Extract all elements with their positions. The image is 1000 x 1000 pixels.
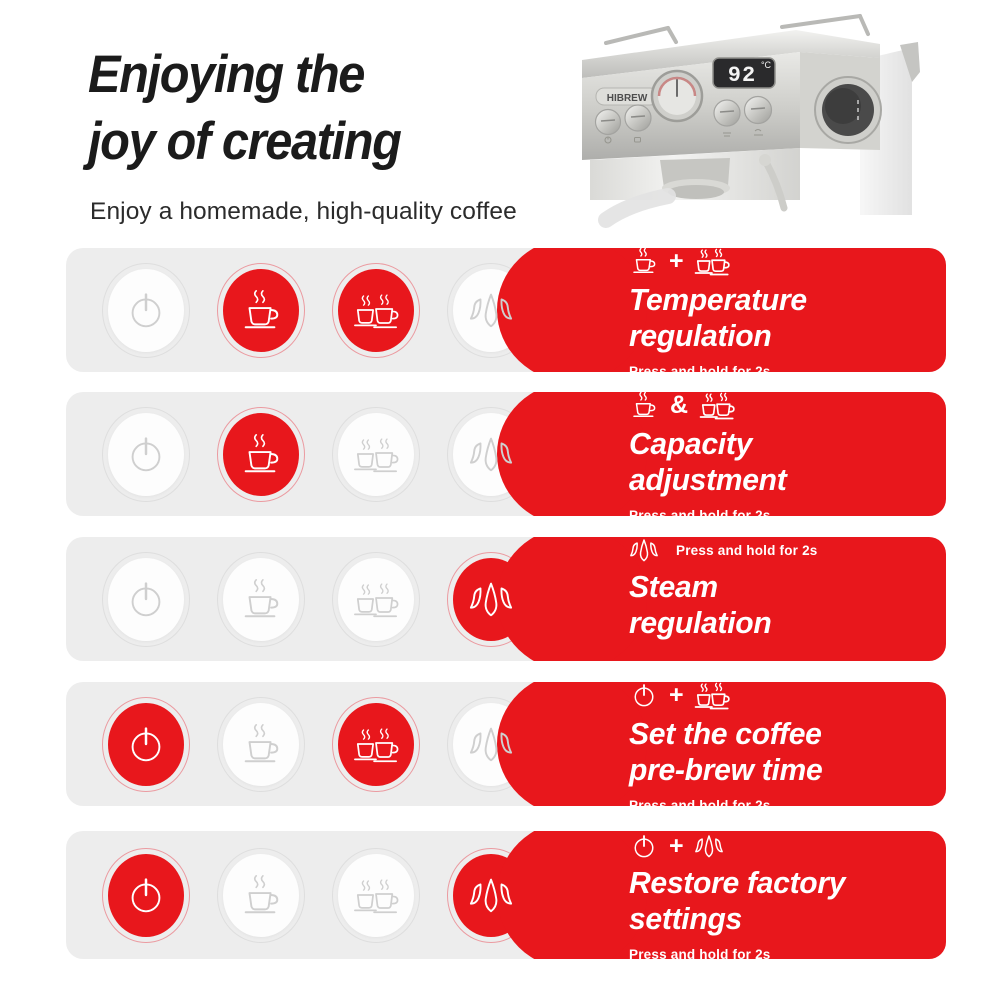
- feature-row-temperature-regulation: +TemperatureregulationPress and hold for…: [66, 248, 946, 372]
- single-cup-icon: [629, 392, 659, 420]
- control-button-group: [66, 537, 581, 661]
- double-cup-icon: [353, 287, 399, 333]
- power-icon: [123, 721, 169, 767]
- button-combination: +: [629, 248, 932, 278]
- control-button-power-inactive[interactable]: [102, 407, 190, 502]
- control-button-group: [66, 248, 581, 372]
- power-icon: [123, 431, 169, 477]
- feature-description-panel: +Restore factorysettingsPress and hold f…: [571, 831, 946, 959]
- control-button-double-cup-active[interactable]: [332, 697, 420, 792]
- feature-title-line-1: Restore factory: [629, 865, 845, 900]
- panel-curved-edge: [497, 831, 647, 959]
- feature-title-line-1: Set the coffee: [629, 716, 822, 751]
- plus-separator: +: [668, 834, 685, 859]
- control-button-group: [66, 682, 581, 806]
- feature-row-set-coffee-pre-brew-time: +Set the coffeepre-brew timePress and ho…: [66, 682, 946, 806]
- espresso-machine-image: HIBREW 92 °C: [560, 0, 1000, 245]
- steam-icon: [468, 872, 514, 918]
- control-button-single-cup-active[interactable]: [217, 407, 305, 502]
- panel-content: +Set the coffeepre-brew timePress and ho…: [629, 682, 932, 806]
- single-cup-icon: [238, 872, 284, 918]
- steam-icon: [468, 287, 514, 333]
- machine-brand-label: HIBREW: [607, 93, 648, 104]
- panel-curved-edge: [497, 682, 647, 806]
- feature-title-line-2: regulation: [629, 318, 923, 353]
- single-cup-icon: [238, 431, 284, 477]
- double-cup-icon: [694, 248, 730, 279]
- espresso-machine-illustration: HIBREW 92 °C: [560, 0, 1000, 245]
- headline-line-2: joy of creating: [88, 109, 520, 176]
- control-button-group: [66, 831, 581, 959]
- control-button-double-cup-inactive[interactable]: [332, 552, 420, 647]
- feature-title: Steamregulation: [629, 569, 923, 639]
- button-combination: +: [629, 831, 932, 861]
- ampersand-separator: &: [668, 393, 690, 418]
- panel-content: +Restore factorysettingsPress and hold f…: [629, 831, 932, 959]
- control-button-power-inactive[interactable]: [102, 552, 190, 647]
- product-infographic-page: Enjoying the joy of creating Enjoy a hom…: [0, 0, 1000, 1000]
- feature-title-line-1: Capacity: [629, 426, 752, 461]
- feature-description-panel: &CapacityadjustmentPress and hold for 2s: [571, 392, 946, 516]
- feature-row-capacity-adjustment: &CapacityadjustmentPress and hold for 2s: [66, 392, 946, 516]
- power-icon: [123, 287, 169, 333]
- control-button-single-cup-inactive[interactable]: [217, 552, 305, 647]
- control-button-single-cup-inactive[interactable]: [217, 697, 305, 792]
- button-combination: +: [629, 682, 932, 712]
- steam-icon: [694, 831, 724, 861]
- power-icon: [123, 872, 169, 918]
- steam-icon: [468, 721, 514, 767]
- feature-description-panel: Press and hold for 2sSteamregulationPres…: [571, 537, 946, 661]
- double-cup-icon: [353, 431, 399, 477]
- single-cup-icon: [238, 576, 284, 622]
- press-hold-instruction: Press and hold for 2s: [629, 947, 932, 959]
- panel-curved-edge: [497, 537, 647, 661]
- panel-content: +TemperatureregulationPress and hold for…: [629, 248, 932, 372]
- control-button-group: [66, 392, 581, 516]
- feature-title: Temperatureregulation: [629, 282, 923, 352]
- feature-title-line-1: Temperature: [629, 282, 807, 317]
- power-icon: [123, 576, 169, 622]
- power-icon: [629, 831, 659, 861]
- press-hold-instruction: Press and hold for 2s: [629, 798, 932, 806]
- double-cup-icon: [699, 392, 735, 423]
- panel-curved-edge: [497, 248, 647, 372]
- plus-separator: +: [668, 249, 685, 274]
- control-button-double-cup-inactive[interactable]: [332, 848, 420, 943]
- double-cup-icon: [353, 872, 399, 918]
- feature-title: Restore factorysettings: [629, 865, 923, 935]
- page-headline: Enjoying the joy of creating: [88, 42, 520, 176]
- control-button-double-cup-active[interactable]: [332, 263, 420, 358]
- feature-title: Capacityadjustment: [629, 426, 923, 496]
- feature-title-line-2: regulation: [629, 605, 923, 640]
- control-button-power-active[interactable]: [102, 697, 190, 792]
- feature-title-line-2: settings: [629, 901, 923, 936]
- feature-row-restore-factory-settings: +Restore factorysettingsPress and hold f…: [66, 831, 946, 959]
- feature-title-line-2: adjustment: [629, 462, 923, 497]
- feature-description-panel: +Set the coffeepre-brew timePress and ho…: [571, 682, 946, 806]
- button-combination: &: [629, 392, 932, 422]
- steam-icon: [629, 537, 659, 565]
- single-cup-icon: [629, 248, 659, 276]
- steam-icon: [468, 576, 514, 622]
- double-cup-icon: [353, 576, 399, 622]
- press-hold-instruction: Press and hold for 2s: [629, 508, 932, 516]
- page-subheadline: Enjoy a homemade, high-quality coffee: [90, 198, 517, 226]
- press-hold-instruction: Press and hold for 2s: [629, 364, 932, 372]
- panel-content: &CapacityadjustmentPress and hold for 2s: [629, 392, 932, 516]
- plus-separator: +: [668, 683, 685, 708]
- power-icon: [629, 682, 659, 710]
- control-button-double-cup-inactive[interactable]: [332, 407, 420, 502]
- control-button-power-active[interactable]: [102, 848, 190, 943]
- machine-display-value: 92: [728, 63, 756, 88]
- button-combination: Press and hold for 2s: [629, 537, 932, 565]
- single-cup-icon: [238, 287, 284, 333]
- press-hold-instruction: Press and hold for 2s: [676, 543, 818, 558]
- control-button-single-cup-active[interactable]: [217, 263, 305, 358]
- control-button-power-inactive[interactable]: [102, 263, 190, 358]
- feature-description-panel: +TemperatureregulationPress and hold for…: [571, 248, 946, 372]
- machine-display-unit: °C: [761, 60, 772, 70]
- feature-title: Set the coffeepre-brew time: [629, 716, 923, 786]
- panel-content: Press and hold for 2sSteamregulationPres…: [629, 537, 932, 661]
- steam-icon: [468, 431, 514, 477]
- feature-title-line-2: pre-brew time: [629, 752, 923, 787]
- headline-line-1: Enjoying the: [88, 45, 364, 104]
- single-cup-icon: [238, 721, 284, 767]
- double-cup-icon: [694, 682, 730, 713]
- double-cup-icon: [353, 721, 399, 767]
- feature-title-line-1: Steam: [629, 569, 718, 604]
- feature-row-steam-regulation: Press and hold for 2sSteamregulationPres…: [66, 537, 946, 661]
- panel-curved-edge: [497, 392, 647, 516]
- control-button-single-cup-inactive[interactable]: [217, 848, 305, 943]
